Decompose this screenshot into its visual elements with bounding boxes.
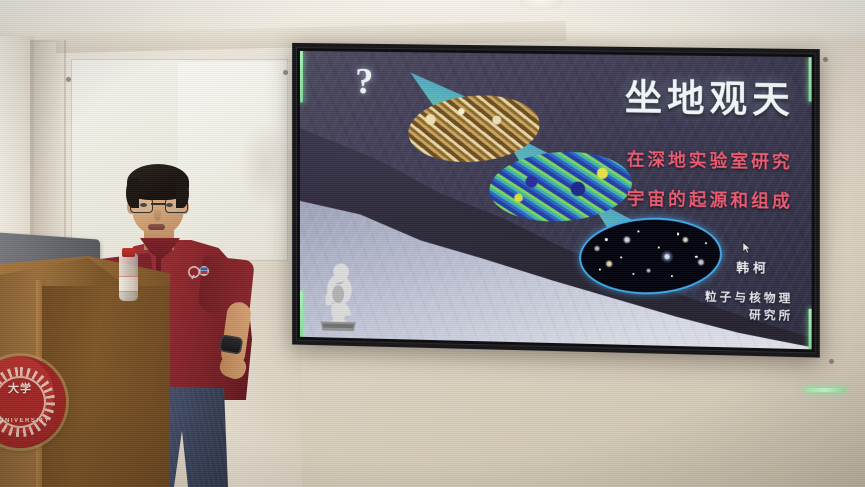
presenter-hair-side xyxy=(126,178,139,208)
slide-author-name: 韩柯 xyxy=(736,257,770,277)
slide-affiliation-line-1: 粒子与核物理 xyxy=(705,289,793,308)
bottle-label xyxy=(119,276,138,292)
presenter-nose xyxy=(154,210,161,221)
seal-glyph-text: 大学 xyxy=(0,382,46,422)
slide-affiliation: 粒子与核物理 研究所 xyxy=(705,289,793,325)
wall-mount-screw xyxy=(823,57,828,62)
screen-edge-accent-icon xyxy=(300,51,303,102)
lecture-hall-screenshot: ? xyxy=(0,0,865,487)
wall-lower-right-panel xyxy=(286,352,865,487)
wall-mount-screw xyxy=(283,70,288,75)
wristwatch xyxy=(219,334,244,355)
screen-edge-accent-icon xyxy=(809,309,812,350)
presentation-screen[interactable]: ? xyxy=(292,43,820,358)
presenter-hair-side xyxy=(176,178,189,208)
green-accent-light-strip xyxy=(805,388,845,392)
wall-corner-edge xyxy=(64,40,66,260)
bottle-cap xyxy=(122,248,135,257)
question-mark-icon: ? xyxy=(355,63,373,100)
screen-edge-accent-icon xyxy=(300,291,303,337)
slide-canvas: ? xyxy=(300,51,812,349)
shirt-logo-badge-icon xyxy=(188,264,212,280)
ceiling-light xyxy=(520,0,562,10)
seal-ring-text: G UNIVERSITY xyxy=(0,418,66,424)
screen-edge-accent-icon xyxy=(809,57,812,102)
slide-title: 坐地观天 xyxy=(625,66,795,123)
wall-mount-screw xyxy=(829,359,834,364)
slide-subtitle-line-1: 在深地实验室研究 xyxy=(627,146,793,174)
presenter-mouth xyxy=(148,224,165,230)
wall-mount-screw xyxy=(66,77,71,82)
rodin-thinker-statue-icon xyxy=(315,258,362,332)
mouse-cursor-icon xyxy=(743,241,752,253)
slide-subtitle-line-2: 宇宙的起源和组成 xyxy=(627,185,793,213)
slide-affiliation-line-2: 研究所 xyxy=(705,305,793,324)
